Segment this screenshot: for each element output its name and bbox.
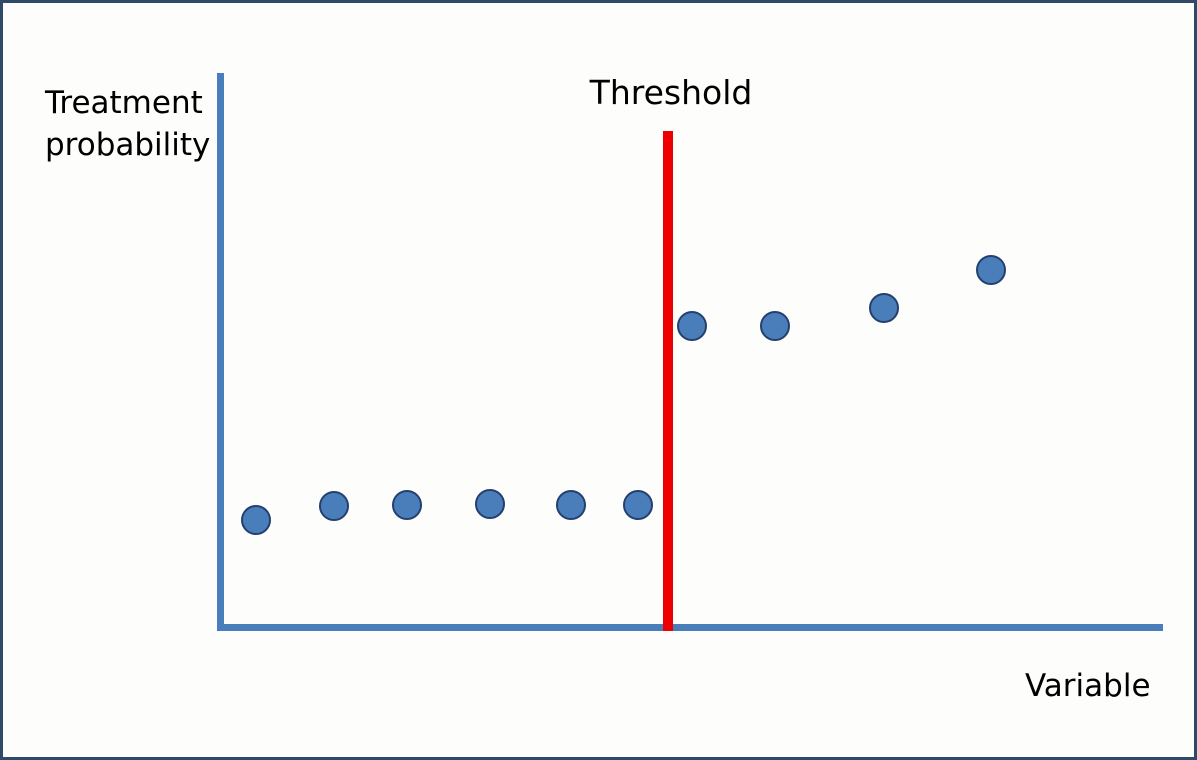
scatter-point <box>556 490 586 520</box>
figure-canvas: Threshold Treatment probability Variable <box>0 0 1197 760</box>
scatter-point <box>976 255 1006 285</box>
scatter-point <box>392 490 422 520</box>
threshold-label: Threshold <box>581 73 761 112</box>
scatter-point <box>869 293 899 323</box>
y-axis-title: Treatment probability <box>45 83 217 167</box>
scatter-point <box>677 311 707 341</box>
scatter-point <box>475 489 505 519</box>
y-axis-title-line2: probability <box>45 125 217 167</box>
threshold-vertical-line <box>663 131 673 631</box>
y-axis-line <box>217 73 224 631</box>
scatter-point <box>319 491 349 521</box>
plot-area: Threshold Treatment probability Variable <box>3 3 1194 757</box>
x-axis-line <box>217 624 1163 631</box>
scatter-point <box>241 505 271 535</box>
scatter-point <box>760 311 790 341</box>
y-axis-title-line1: Treatment <box>45 83 217 125</box>
scatter-point <box>623 490 653 520</box>
x-axis-title: Variable <box>1025 668 1151 704</box>
